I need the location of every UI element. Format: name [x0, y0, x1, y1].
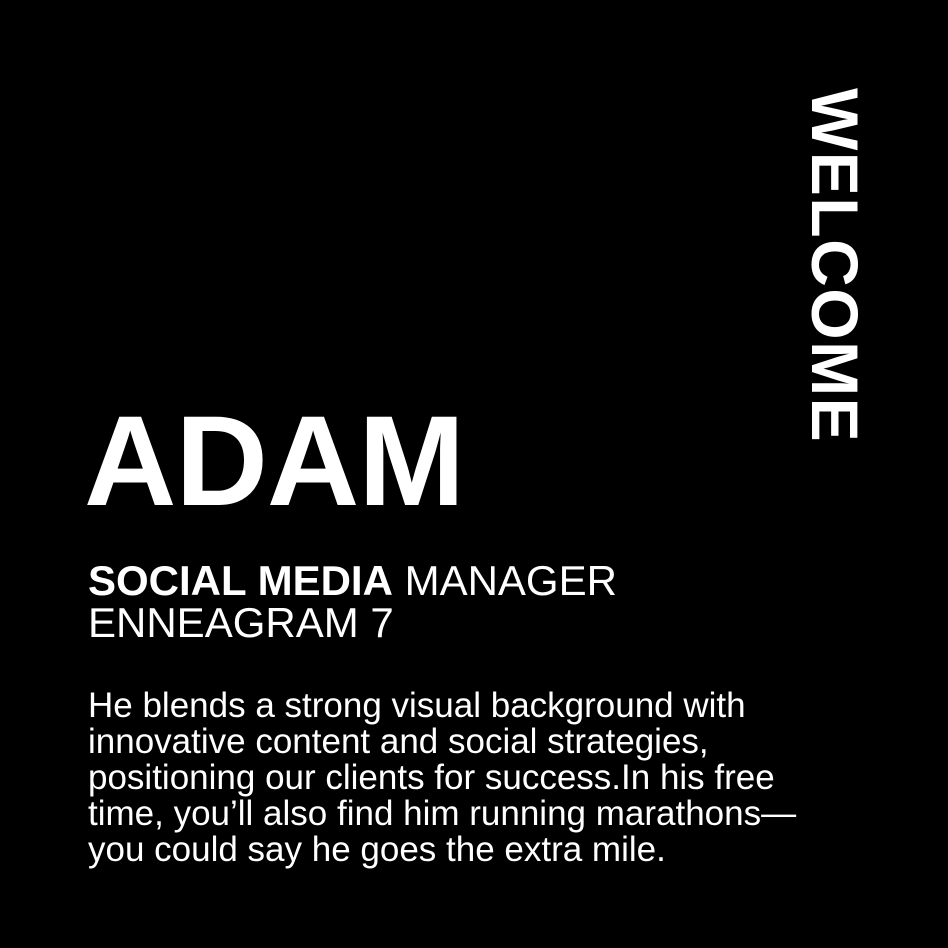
welcome-label: WELCOME [810, 88, 860, 388]
bio-line: innovative content and social strategies… [88, 722, 709, 761]
role-line-primary: SOCIAL MEDIA MANAGER [88, 560, 617, 602]
bio-paragraph: He blends a strong visual background wit… [88, 688, 848, 868]
role-title-strong: SOCIAL MEDIA [88, 557, 393, 604]
role-line-secondary: ENNEAGRAM 7 [88, 602, 617, 644]
bio-block: He blends a strong visual background wit… [88, 688, 848, 868]
bio-line: positioning our clients for success.In h… [88, 758, 775, 797]
bio-line: you could say he goes the extra mile. [88, 830, 666, 869]
role-title-light: MANAGER [393, 557, 617, 604]
name-block: ADAM [84, 398, 464, 526]
welcome-profile-card: WELCOME ADAM SOCIAL MEDIA MANAGER ENNEAG… [0, 0, 948, 948]
role-block: SOCIAL MEDIA MANAGER ENNEAGRAM 7 [88, 560, 617, 644]
bio-line: time, you’ll also find him running marat… [88, 794, 796, 833]
bio-line: He blends a strong visual background wit… [88, 686, 746, 725]
welcome-label-text: WELCOME [810, 88, 860, 443]
page-title: ADAM [84, 398, 464, 526]
